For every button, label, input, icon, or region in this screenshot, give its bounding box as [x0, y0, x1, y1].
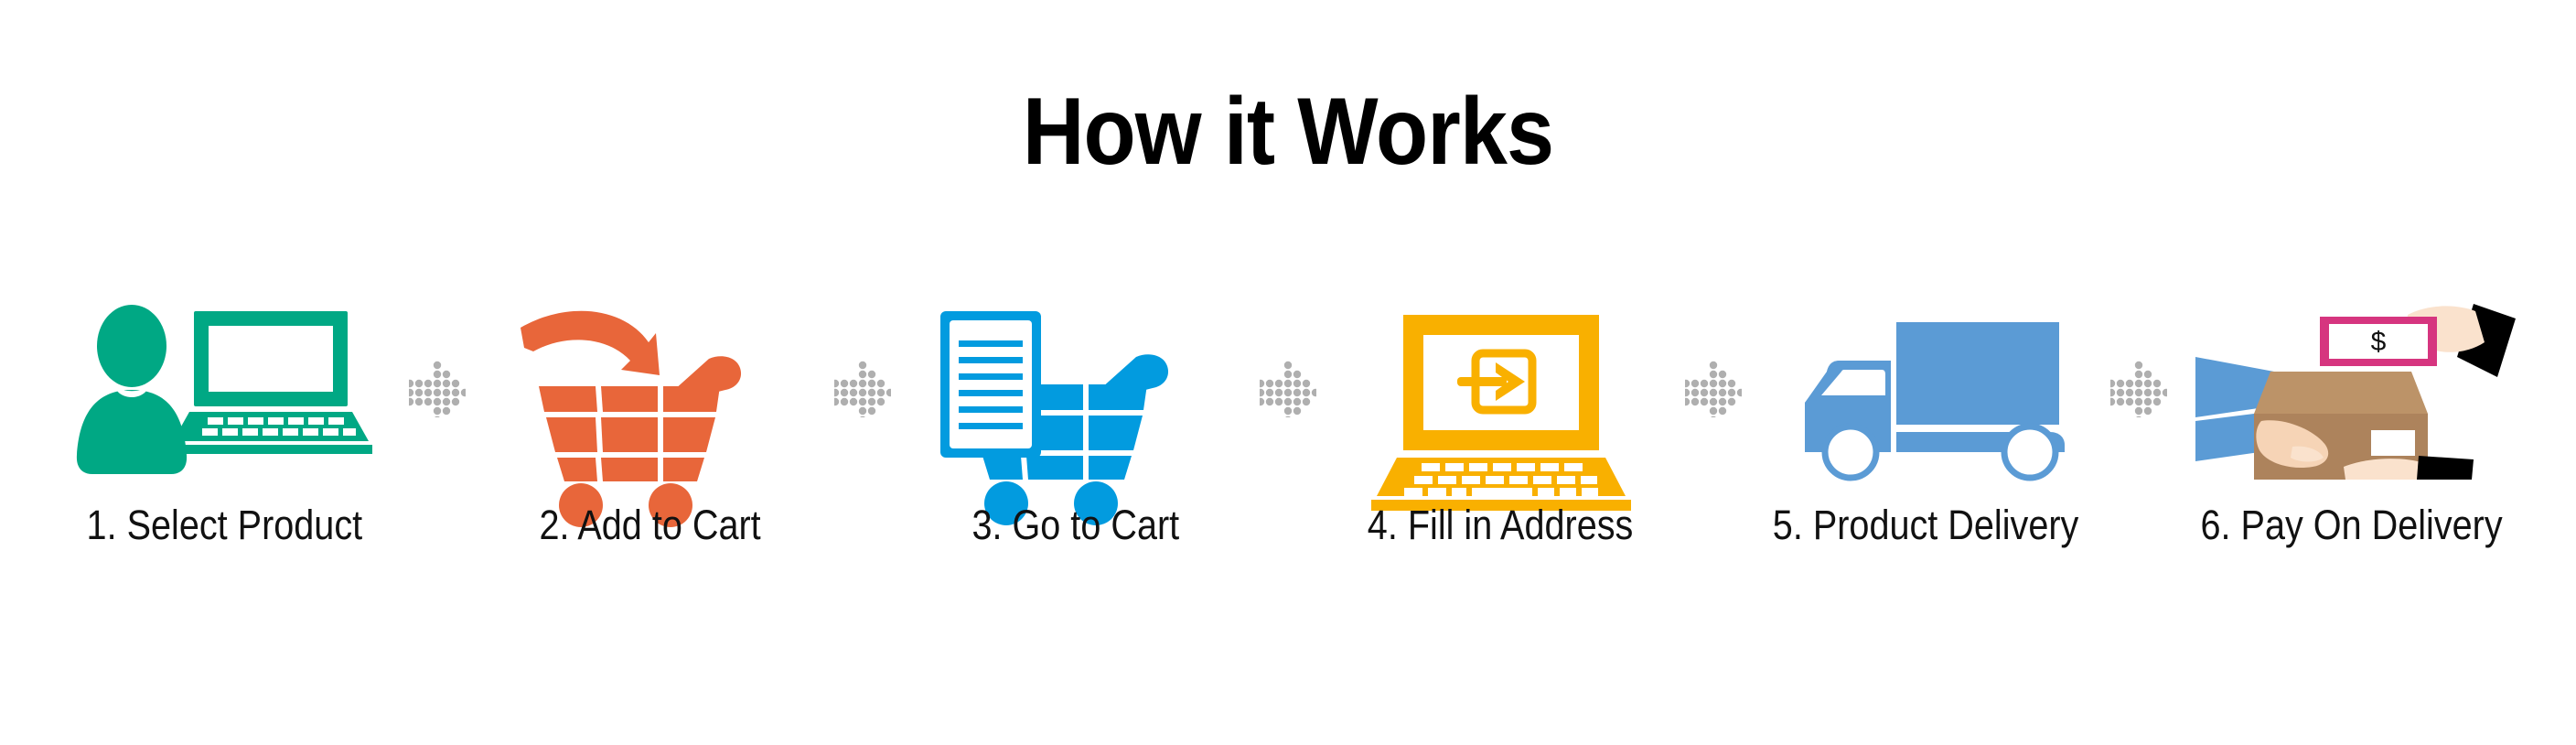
step-3-go-to-cart[interactable]: 3. Go to Cart — [895, 302, 1256, 549]
arrow-dots-separator-2 — [831, 302, 895, 476]
cart-with-arrow-icon — [469, 302, 831, 476]
cash-on-delivery-icon: $ — [2171, 302, 2532, 476]
document-and-cart-icon — [895, 302, 1256, 476]
step-label: 2. Add to Cart — [539, 502, 760, 549]
page-title: How it Works — [129, 84, 2447, 179]
steps-row: 1. Select Product — [0, 302, 2576, 613]
arrow-dots-separator-4 — [1681, 302, 1745, 476]
step-1-select-product[interactable]: 1. Select Product — [44, 302, 405, 549]
step-2-add-to-cart[interactable]: 2. Add to Cart — [469, 302, 831, 549]
laptop-login-icon — [1320, 302, 1681, 476]
step-label: 5. Product Delivery — [1773, 502, 2079, 549]
step-5-product-delivery[interactable]: 5. Product Delivery — [1745, 302, 2107, 549]
money-symbol: $ — [2370, 327, 2386, 357]
step-4-fill-in-address[interactable]: 4. Fill in Address — [1320, 302, 1681, 549]
step-label: 3. Go to Cart — [971, 502, 1179, 549]
step-label: 4. Fill in Address — [1368, 502, 1634, 549]
arrow-dots-separator-1 — [405, 302, 469, 476]
step-label: 1. Select Product — [87, 502, 363, 549]
banknote: $ — [2320, 317, 2437, 366]
step-6-pay-on-delivery[interactable]: $ — [2171, 302, 2532, 549]
infographic-page: How it Works — [0, 0, 2576, 745]
arrow-dots-separator-3 — [1256, 302, 1320, 476]
arrow-dots-separator-5 — [2107, 302, 2171, 476]
step-label: 6. Pay On Delivery — [2200, 502, 2502, 549]
delivery-truck-icon — [1745, 302, 2107, 476]
person-at-laptop-icon — [44, 302, 405, 476]
